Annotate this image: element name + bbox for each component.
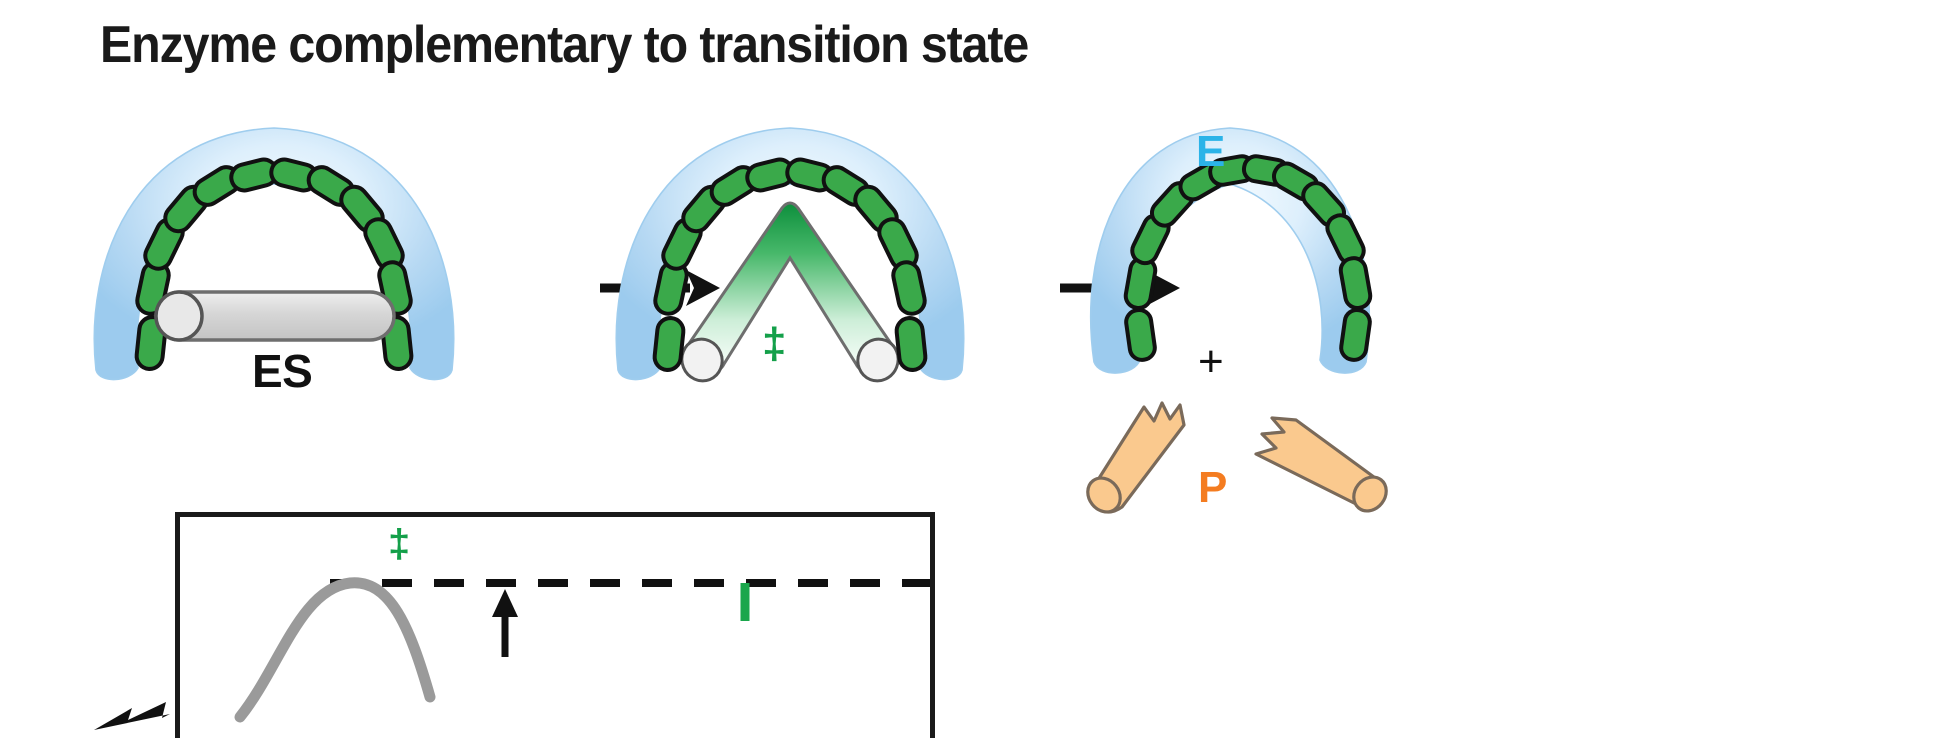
label-transition-state-dagger: ‡ [762, 322, 786, 366]
panel-transition-state [600, 112, 1000, 382]
transition-state-substrate [676, 203, 905, 387]
activation-energy-arrow [492, 589, 518, 617]
panel-free-enzyme [1068, 112, 1408, 382]
substrate-rod [156, 292, 394, 340]
label-graph-dagger: ‡ [388, 524, 410, 564]
label-es: ES [252, 348, 312, 394]
y-axis-arrow-fragment [92, 690, 172, 738]
page-title: Enzyme complementary to transition state [100, 14, 1028, 76]
panel-es-complex [78, 112, 498, 382]
reaction-coordinate-curve [240, 583, 430, 717]
product-fragment-right [1256, 418, 1393, 517]
label-free-enzyme: E [1196, 130, 1225, 174]
product-fragment-left [1081, 403, 1184, 518]
product-fragment-right-wrap [1240, 410, 1560, 530]
label-product: P [1198, 466, 1227, 510]
label-plus-sign: + [1198, 340, 1224, 384]
energy-diagram-box [175, 512, 935, 738]
figure-canvas: Enzyme complementary to transition state [0, 0, 1956, 738]
